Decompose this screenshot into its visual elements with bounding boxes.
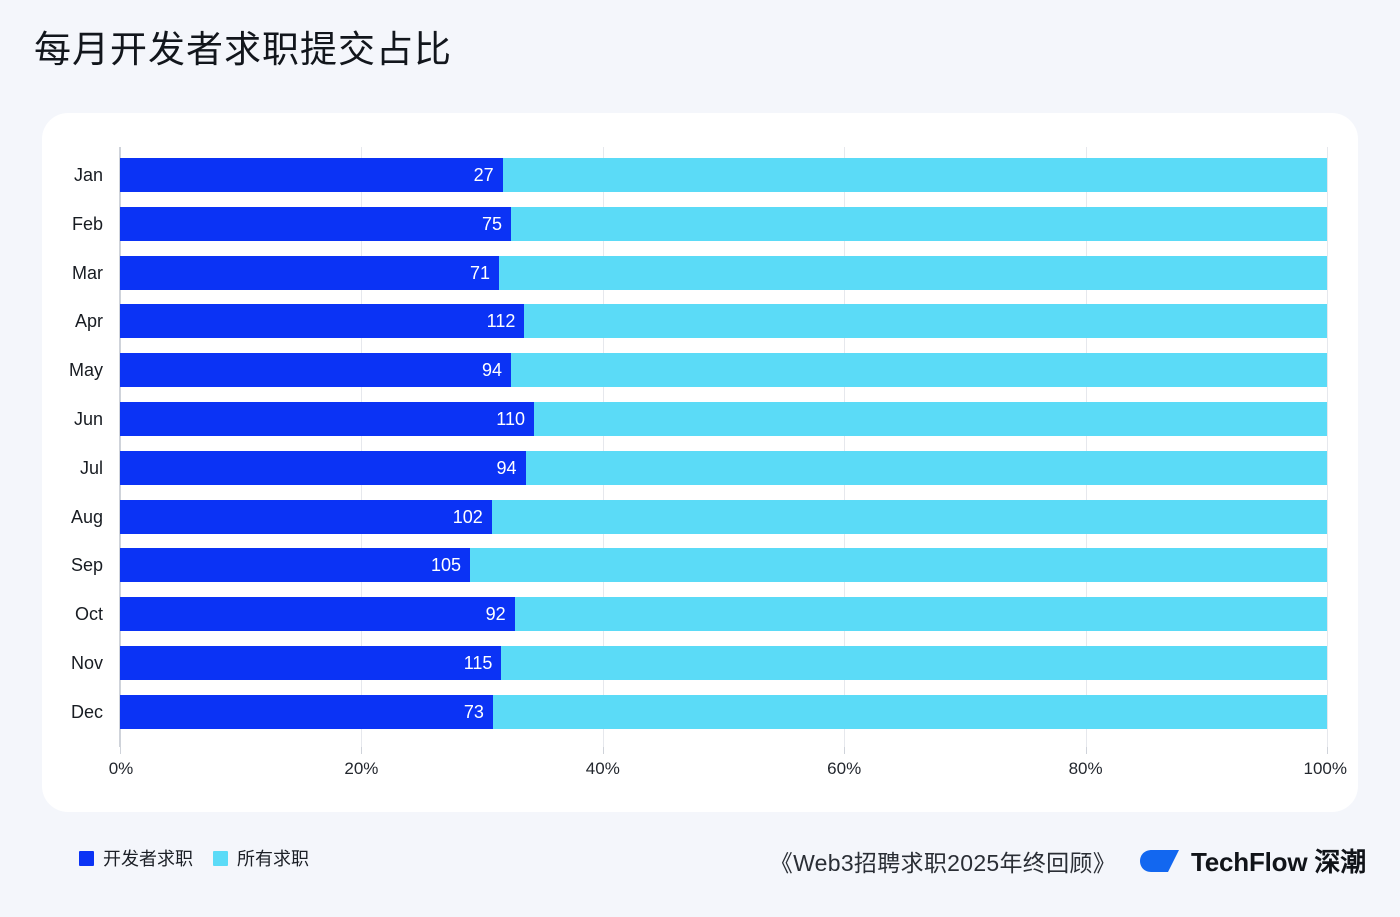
bar-value-label: 105 (431, 556, 470, 574)
x-tick-label: 100% (1304, 759, 1347, 779)
bar-row: Jun110 (120, 402, 1327, 436)
bar-row: Jul94 (120, 451, 1327, 485)
developer-swatch-icon (79, 851, 94, 866)
y-axis-label: Feb (72, 207, 103, 241)
y-axis-label: Aug (71, 500, 103, 534)
footer-attribution: 《Web3招聘求职2025年终回顾》 TechFlow 深潮 (770, 842, 1366, 879)
x-tick-mark (844, 747, 845, 754)
bar-value-label: 102 (453, 508, 492, 526)
all-swatch-icon (213, 851, 228, 866)
bar-segment-developer[interactable]: 112 (120, 304, 524, 338)
chart-page: 每月开发者求职提交占比 0%20%40%60%80%100% Jan27Feb7… (0, 0, 1400, 917)
y-axis-label: Dec (71, 695, 103, 729)
bar-value-label: 112 (487, 312, 525, 330)
y-axis-label: Nov (71, 646, 103, 680)
legend-label-developer: 开发者求职 (103, 845, 193, 871)
x-tick-mark (1086, 747, 1087, 754)
bar-row: Oct92 (120, 597, 1327, 631)
y-axis-label: Oct (75, 597, 103, 631)
x-tick-mark (361, 747, 362, 754)
y-axis-label: Sep (71, 548, 103, 582)
x-tick-label: 20% (344, 759, 378, 779)
bar-value-label: 27 (474, 166, 503, 184)
bar-segment-developer[interactable]: 92 (120, 597, 515, 631)
legend-label-all: 所有求职 (237, 845, 309, 871)
bar-row: Dec73 (120, 695, 1327, 729)
bar-segment-developer[interactable]: 73 (120, 695, 493, 729)
page-title: 每月开发者求职提交占比 (34, 27, 452, 73)
y-axis-label: Jul (80, 451, 103, 485)
bar-row: May94 (120, 353, 1327, 387)
bar-value-label: 110 (496, 410, 534, 428)
bar-row: Nov115 (120, 646, 1327, 680)
y-axis-label: Jun (74, 402, 103, 436)
bar-segment-developer[interactable]: 115 (120, 646, 501, 680)
bar-row: Mar71 (120, 256, 1327, 290)
bar-segment-developer[interactable]: 71 (120, 256, 499, 290)
x-tick-label: 40% (586, 759, 620, 779)
bar-row: Aug102 (120, 500, 1327, 534)
bar-value-label: 94 (482, 361, 511, 379)
footer: 开发者求职 所有求职 《Web3招聘求职2025年终回顾》 TechFlow 深… (0, 836, 1400, 892)
bar-segment-developer[interactable]: 102 (120, 500, 492, 534)
bar-segment-developer[interactable]: 94 (120, 353, 511, 387)
bar-segment-developer[interactable]: 94 (120, 451, 526, 485)
y-axis-label: Mar (72, 256, 103, 290)
bar-segment-developer[interactable]: 75 (120, 207, 511, 241)
gridline (1327, 147, 1328, 747)
bar-value-label: 115 (464, 654, 502, 672)
x-tick-mark (120, 747, 121, 754)
bar-value-label: 73 (464, 703, 493, 721)
legend-item-all[interactable]: 所有求职 (213, 845, 309, 871)
bar-segment-developer[interactable]: 105 (120, 548, 470, 582)
bar-value-label: 94 (497, 459, 526, 477)
bar-row: Feb75 (120, 207, 1327, 241)
y-axis-label: Apr (75, 304, 103, 338)
bar-row: Jan27 (120, 158, 1327, 192)
y-axis-label: Jan (74, 158, 103, 192)
techflow-leaf-logo-icon (1140, 849, 1180, 873)
bar-value-label: 92 (486, 605, 515, 623)
bar-value-label: 75 (482, 215, 511, 233)
legend-item-developer[interactable]: 开发者求职 (79, 845, 193, 871)
x-tick-mark (1327, 747, 1328, 754)
x-tick-label: 80% (1069, 759, 1103, 779)
brand-lockup: TechFlow 深潮 (1140, 842, 1366, 879)
y-axis-label: May (69, 353, 103, 387)
bar-segment-developer[interactable]: 110 (120, 402, 534, 436)
plot-area: 0%20%40%60%80%100% Jan27Feb75Mar71Apr112… (120, 147, 1327, 747)
report-name: 《Web3招聘求职2025年终回顾》 (770, 844, 1116, 878)
x-tick-label: 60% (827, 759, 861, 779)
bar-row: Sep105 (120, 548, 1327, 582)
chart-card: 0%20%40%60%80%100% Jan27Feb75Mar71Apr112… (42, 113, 1358, 812)
chart-legend: 开发者求职 所有求职 (79, 845, 309, 871)
bar-segment-developer[interactable]: 27 (120, 158, 503, 192)
x-tick-label: 0% (109, 759, 134, 779)
bar-row: Apr112 (120, 304, 1327, 338)
brand-name: TechFlow 深潮 (1191, 842, 1366, 879)
x-tick-mark (603, 747, 604, 754)
bar-value-label: 71 (470, 264, 499, 282)
